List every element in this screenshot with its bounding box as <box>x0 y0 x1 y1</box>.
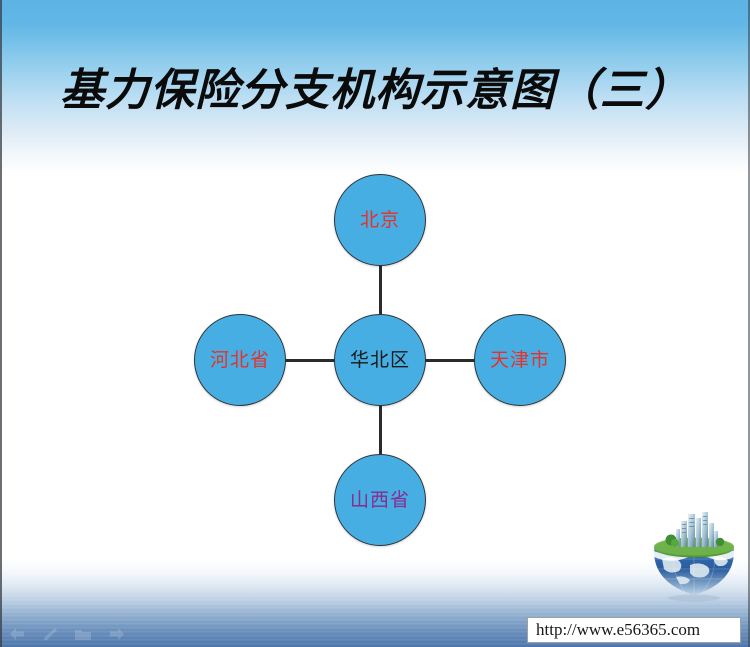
website-url-text: http://www.e56365.com <box>536 620 700 640</box>
org-diagram: 北京 河北省 华北区 天津市 山西省 <box>180 160 580 560</box>
pencil-icon <box>42 627 58 641</box>
watermark-icon-group <box>8 627 126 641</box>
diagram-node-tianjin[interactable]: 天津市 <box>474 314 566 406</box>
forward-arrow-icon <box>108 627 126 641</box>
node-label: 山西省 <box>350 491 410 510</box>
page-title: 基力保险分支机构示意图（三） <box>0 66 750 115</box>
node-label: 河北省 <box>210 351 270 370</box>
diagram-node-beijing[interactable]: 北京 <box>334 174 426 266</box>
folder-icon <box>74 627 92 641</box>
website-url-box[interactable]: http://www.e56365.com <box>527 617 741 643</box>
node-label: 天津市 <box>490 351 550 370</box>
earth-city-globe-logo <box>646 507 742 603</box>
connector-center-to-right <box>420 359 480 362</box>
node-label: 华北区 <box>350 351 410 370</box>
node-label: 北京 <box>360 211 400 230</box>
connector-center-to-bottom <box>379 400 382 460</box>
slide-canvas: 基力保险分支机构示意图（三） 北京 河北省 华北区 天津市 山西省 <box>0 0 750 647</box>
connector-center-to-top <box>379 260 382 320</box>
diagram-node-hebei[interactable]: 河北省 <box>194 314 286 406</box>
back-arrow-icon <box>8 627 26 641</box>
connector-center-to-left <box>280 359 340 362</box>
diagram-node-shanxi[interactable]: 山西省 <box>334 454 426 546</box>
diagram-node-huabei-center[interactable]: 华北区 <box>334 314 426 406</box>
